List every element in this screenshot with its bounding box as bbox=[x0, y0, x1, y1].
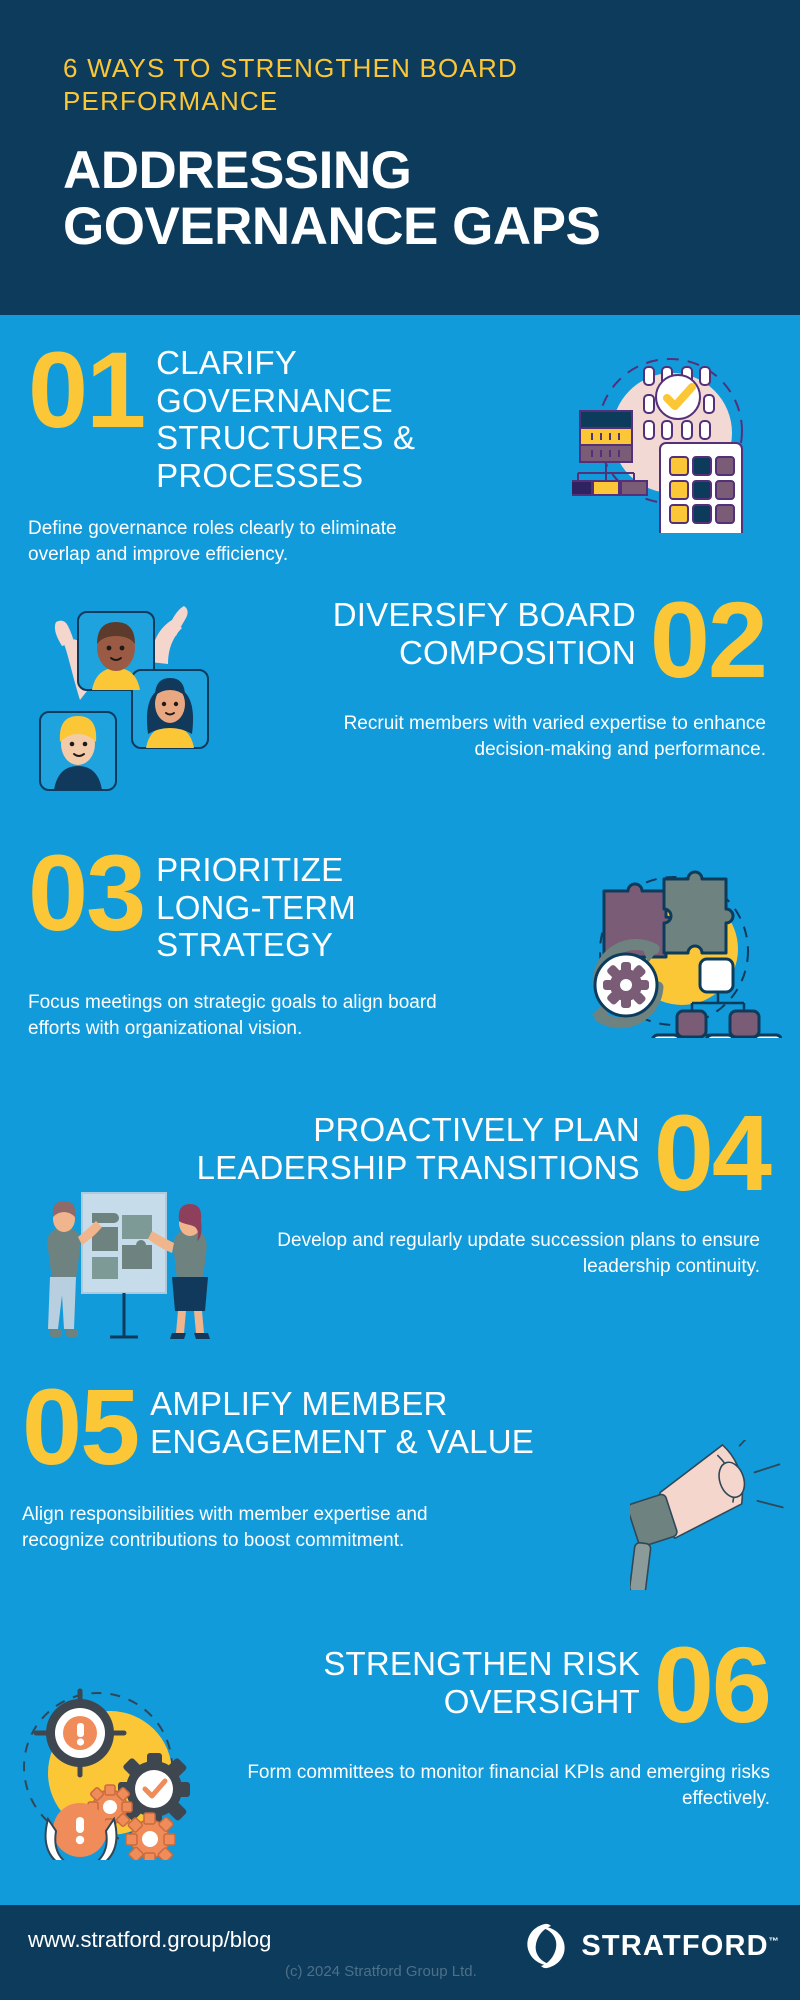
puzzle-gear-strategy-icon bbox=[582, 863, 782, 1038]
section-title-05: Amplify Member Engagement & Value bbox=[150, 1377, 540, 1460]
section-03: 03 Prioritize Long-Term Strategy Focus m… bbox=[0, 815, 800, 1075]
section-number-05: 05 bbox=[22, 1377, 138, 1476]
infographic-root: 6 Ways to Strengthen Board Performance A… bbox=[0, 0, 800, 2000]
page-title: Addressing Governance Gaps bbox=[63, 143, 740, 255]
risk-gears-icon bbox=[18, 1685, 228, 1860]
section-desc-05: Align responsibilities with member exper… bbox=[22, 1502, 472, 1554]
brand-logo: STRATFORD™ bbox=[523, 1921, 780, 1971]
footer-bar: www.stratford.group/blog (c) 2024 Stratf… bbox=[0, 1905, 800, 2000]
section-number-02: 02 bbox=[650, 590, 766, 689]
trademark-icon: ™ bbox=[769, 1936, 780, 1947]
brand-wordmark: STRATFORD™ bbox=[581, 1930, 780, 1963]
sections-container: 01 Clarify Governance Structures & Proce… bbox=[0, 315, 800, 1905]
section-desc-04: Develop and regularly update succession … bbox=[210, 1228, 760, 1280]
people-puzzle-board-icon bbox=[22, 1185, 222, 1345]
section-06: Strengthen Risk Oversight 06 Form commit… bbox=[0, 1605, 800, 1860]
section-02: Diversify Board Composition 02 Recruit m… bbox=[0, 570, 800, 815]
section-number-03: 03 bbox=[28, 843, 144, 942]
section-desc-02: Recruit members with varied expertise to… bbox=[326, 711, 766, 763]
headline-line-2: Governance Gaps bbox=[63, 199, 740, 255]
header-banner: 6 Ways to Strengthen Board Performance A… bbox=[0, 0, 800, 315]
section-desc-06: Form committees to monitor financial KPI… bbox=[220, 1760, 770, 1812]
footer-url[interactable]: www.stratford.group/blog bbox=[28, 1927, 271, 1953]
section-04: Proactively Plan Leadership Transitions … bbox=[0, 1075, 800, 1345]
section-title-04: Proactively Plan Leadership Transitions bbox=[100, 1103, 640, 1186]
section-title-01: Clarify Governance Structures & Processe… bbox=[156, 340, 476, 494]
footer-copyright: (c) 2024 Stratford Group Ltd. bbox=[285, 1963, 477, 1980]
section-title-06: Strengthen Risk Oversight bbox=[240, 1635, 640, 1720]
megaphone-icon bbox=[630, 1440, 795, 1590]
headline-line-1: Addressing bbox=[63, 141, 411, 200]
stratford-swirl-logo-icon bbox=[523, 1921, 569, 1971]
section-title-02: Diversify Board Composition bbox=[266, 590, 636, 671]
section-01: 01 Clarify Governance Structures & Proce… bbox=[0, 315, 800, 570]
section-number-04: 04 bbox=[654, 1103, 770, 1202]
diverse-people-icon bbox=[22, 592, 212, 792]
section-number-01: 01 bbox=[28, 340, 144, 439]
section-desc-03: Focus meetings on strategic goals to ali… bbox=[28, 990, 468, 1042]
section-05: 05 Amplify Member Engagement & Value Ali… bbox=[0, 1345, 800, 1605]
section-number-06: 06 bbox=[654, 1635, 770, 1734]
governance-structure-icon bbox=[572, 353, 772, 533]
header-eyebrow: 6 Ways to Strengthen Board Performance bbox=[63, 52, 623, 119]
section-desc-01: Define governance roles clearly to elimi… bbox=[28, 516, 453, 568]
section-title-03: Prioritize Long-Term Strategy bbox=[156, 843, 456, 964]
